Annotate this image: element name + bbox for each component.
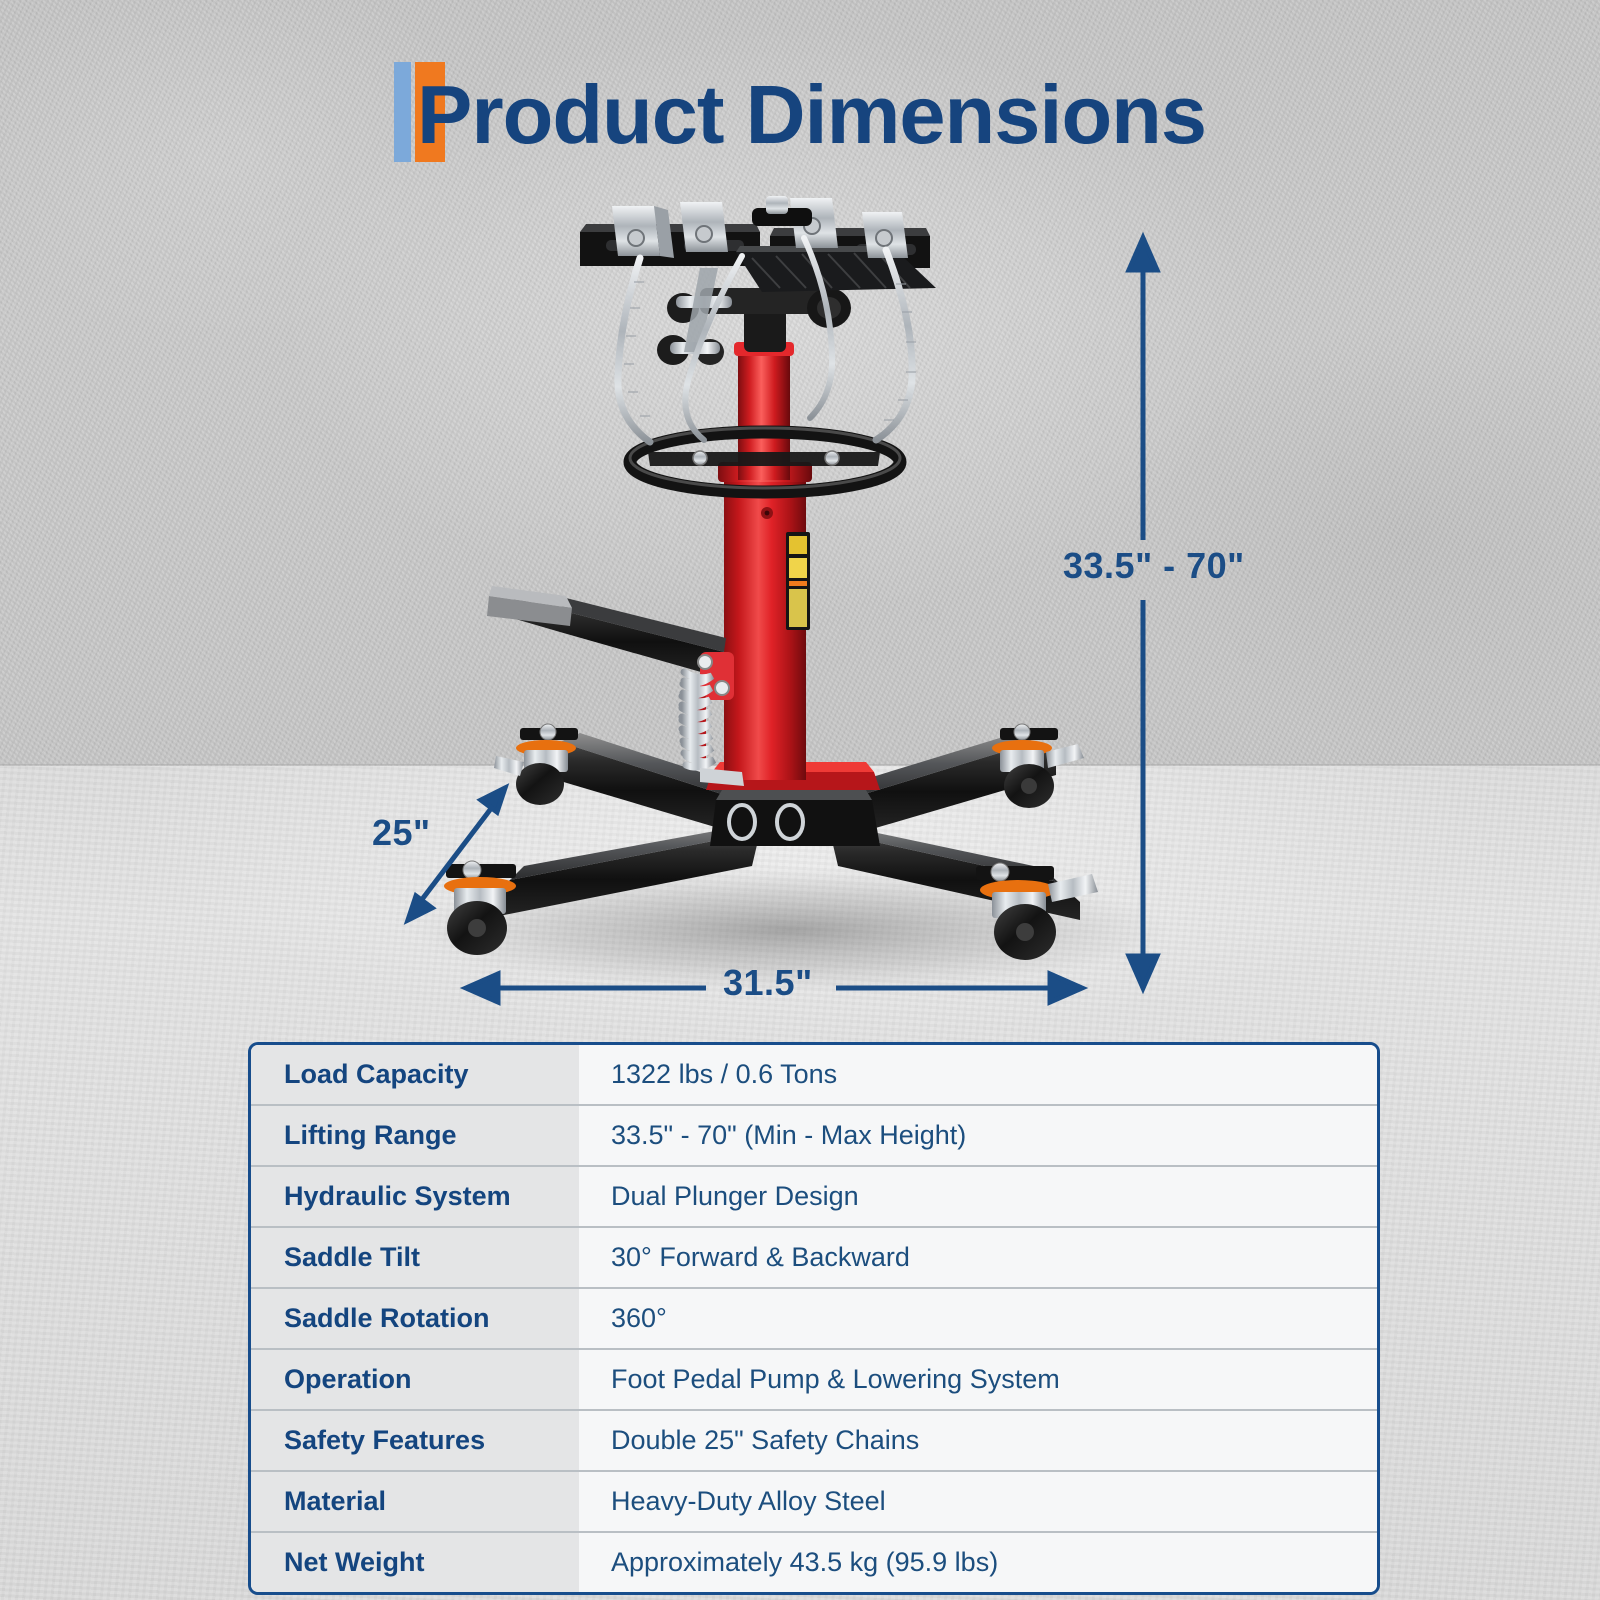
dimension-line-height [1129, 238, 1157, 988]
caster-wheel-back-right [992, 724, 1084, 808]
page-title-text: Product Dimensions [417, 73, 1206, 156]
spec-value: Dual Plunger Design [579, 1167, 1377, 1226]
spec-row: Net WeightApproximately 43.5 kg (95.9 lb… [251, 1531, 1377, 1592]
saddle-bracket-icon [612, 206, 674, 258]
spec-key: Lifting Range [251, 1106, 579, 1165]
spec-row: Load Capacity1322 lbs / 0.6 Tons [251, 1045, 1377, 1104]
spec-value: Double 25" Safety Chains [579, 1411, 1377, 1470]
spec-value: Heavy-Duty Alloy Steel [579, 1472, 1377, 1531]
return-spring-icon [682, 672, 714, 767]
spec-value: 360° [579, 1289, 1377, 1348]
spec-row: OperationFoot Pedal Pump & Lowering Syst… [251, 1348, 1377, 1409]
spec-key: Saddle Tilt [251, 1228, 579, 1287]
safety-chain-left [618, 258, 650, 442]
spec-row: MaterialHeavy-Duty Alloy Steel [251, 1470, 1377, 1531]
spec-key: Material [251, 1472, 579, 1531]
spec-row: Saddle Rotation360° [251, 1287, 1377, 1348]
spec-row: Hydraulic SystemDual Plunger Design [251, 1165, 1377, 1226]
spec-key: Operation [251, 1350, 579, 1409]
spec-value: 30° Forward & Backward [579, 1228, 1377, 1287]
spec-key: Safety Features [251, 1411, 579, 1470]
spec-row: Saddle Tilt30° Forward & Backward [251, 1226, 1377, 1287]
hydraulic-cylinder [718, 342, 812, 780]
saddle-bracket-icon [680, 202, 728, 252]
warning-label-icon [786, 532, 810, 630]
spec-value: 33.5" - 70" (Min - Max Height) [579, 1106, 1377, 1165]
spec-key: Load Capacity [251, 1045, 579, 1104]
spec-row: Lifting Range33.5" - 70" (Min - Max Heig… [251, 1104, 1377, 1165]
specifications-table: Load Capacity1322 lbs / 0.6 TonsLifting … [248, 1042, 1380, 1595]
spec-key: Saddle Rotation [251, 1289, 579, 1348]
dimension-label-depth: 25" [372, 812, 431, 854]
spec-value: Approximately 43.5 kg (95.9 lbs) [579, 1533, 1377, 1592]
spec-row: Safety FeaturesDouble 25" Safety Chains [251, 1409, 1377, 1470]
spec-value: Foot Pedal Pump & Lowering System [579, 1350, 1377, 1409]
dimension-label-width: 31.5" [723, 962, 813, 1004]
spec-value: 1322 lbs / 0.6 Tons [579, 1045, 1377, 1104]
dimension-label-height: 33.5" - 70" [1063, 545, 1245, 587]
caster-wheel-back-left [494, 724, 578, 805]
spec-key: Net Weight [251, 1533, 579, 1592]
spec-key: Hydraulic System [251, 1167, 579, 1226]
